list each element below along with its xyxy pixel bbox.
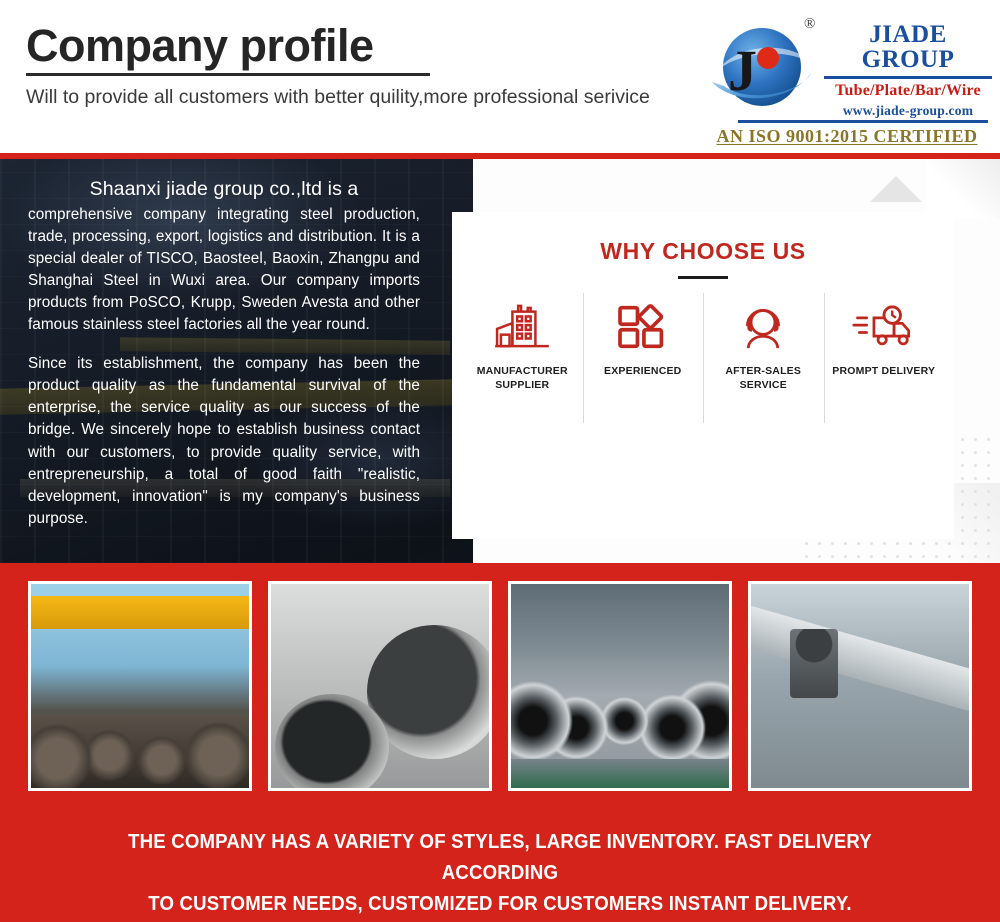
logo-tagline: Tube/Plate/Bar/Wire [824, 82, 992, 100]
logo-separator-bar [824, 76, 992, 79]
title-underline-rule [26, 73, 430, 76]
why-choose-us-title-underline [678, 276, 728, 279]
footer-tagline-line-2: TO CUSTOMER NEEDS, CUSTOMIZED FOR CUSTOM… [82, 889, 919, 920]
why-item-experienced[interactable]: EXPERIENCED [583, 301, 704, 413]
why-choose-us-items: MANUFACTURER SUPPLIER EXPERIENCED [452, 301, 954, 413]
why-choose-us-card: WHY CHOOSE US [452, 212, 954, 539]
gallery-item-large-diameter-stainless-steel-pipes[interactable] [268, 581, 492, 791]
headset-support-icon [736, 301, 790, 353]
why-choose-us-title: WHY CHOOSE US [452, 238, 954, 265]
company-profile-page: Company profile Will to provide all cust… [0, 0, 1000, 922]
gallery-image [31, 584, 249, 788]
gallery-image [271, 584, 489, 788]
gallery-section: THE COMPANY HAS A VARIETY OF STYLES, LAR… [0, 563, 1000, 922]
svg-text:J: J [728, 38, 757, 103]
gallery-image [751, 584, 969, 788]
footer-tagline: THE COMPANY HAS A VARIETY OF STYLES, LAR… [82, 827, 919, 920]
jiade-group-logo: J ® JIADE GROUP Tube/Plate/Bar/Wire www.… [694, 8, 994, 148]
page-title: Company profile [26, 22, 706, 69]
logo-globe-j-icon: J [704, 20, 824, 118]
about-text-block: Shaanxi jiade group co.,ltd is a compreh… [28, 177, 420, 530]
delivery-truck-clock-icon [852, 301, 916, 353]
logo-bottom-divider [738, 120, 988, 123]
corner-triangle-decoration [870, 176, 922, 202]
why-item-label: AFTER-SALES SERVICE [707, 364, 820, 392]
why-item-label: MANUFACTURER SUPPLIER [466, 364, 579, 392]
iso-certification-label: AN ISO 9001:2015 CERTIFIED [704, 126, 990, 147]
logo-website-url[interactable]: www.jiade-group.com [824, 103, 992, 119]
gallery-item-industrial-valves-and-piping[interactable] [748, 581, 972, 791]
why-item-manufacturer-supplier[interactable]: MANUFACTURER SUPPLIER [462, 301, 583, 413]
why-item-label: EXPERIENCED [604, 364, 681, 378]
about-lead-line: Shaanxi jiade group co.,ltd is a [28, 177, 420, 202]
squares-icon [617, 301, 669, 353]
logo-company-name: JIADE GROUP [824, 22, 992, 72]
footer-tagline-line-1: THE COMPANY HAS A VARIETY OF STYLES, LAR… [82, 827, 919, 889]
about-paragraph-1: comprehensive company integrating steel … [28, 204, 420, 336]
logo-text-block: JIADE GROUP Tube/Plate/Bar/Wire www.jiad… [824, 22, 992, 119]
gallery-item-cold-rolled-steel-coil-storage[interactable] [508, 581, 732, 791]
page-header: Company profile Will to provide all cust… [0, 0, 1000, 158]
corner-gradient-decoration [926, 159, 1000, 219]
why-item-prompt-delivery[interactable]: PROMPT DELIVERY [824, 301, 945, 413]
why-item-after-sales-service[interactable]: AFTER-SALES SERVICE [703, 301, 824, 413]
gallery-image [511, 584, 729, 788]
about-paragraph-2: Since its establishment, the company has… [28, 353, 420, 529]
gallery-item-warehouse-overhead-crane-and-steel-coils[interactable] [28, 581, 252, 791]
header-text-block: Company profile Will to provide all cust… [26, 22, 706, 111]
about-section: Shaanxi jiade group co.,ltd is a compreh… [0, 159, 1000, 563]
registered-trademark-symbol: ® [804, 16, 815, 33]
page-subtitle: Will to provide all customers with bette… [26, 84, 706, 110]
why-choose-us-panel: WHY CHOOSE US [473, 159, 1000, 563]
why-item-label: PROMPT DELIVERY [832, 364, 935, 378]
gallery-row [28, 581, 972, 791]
factory-icon [493, 301, 551, 353]
